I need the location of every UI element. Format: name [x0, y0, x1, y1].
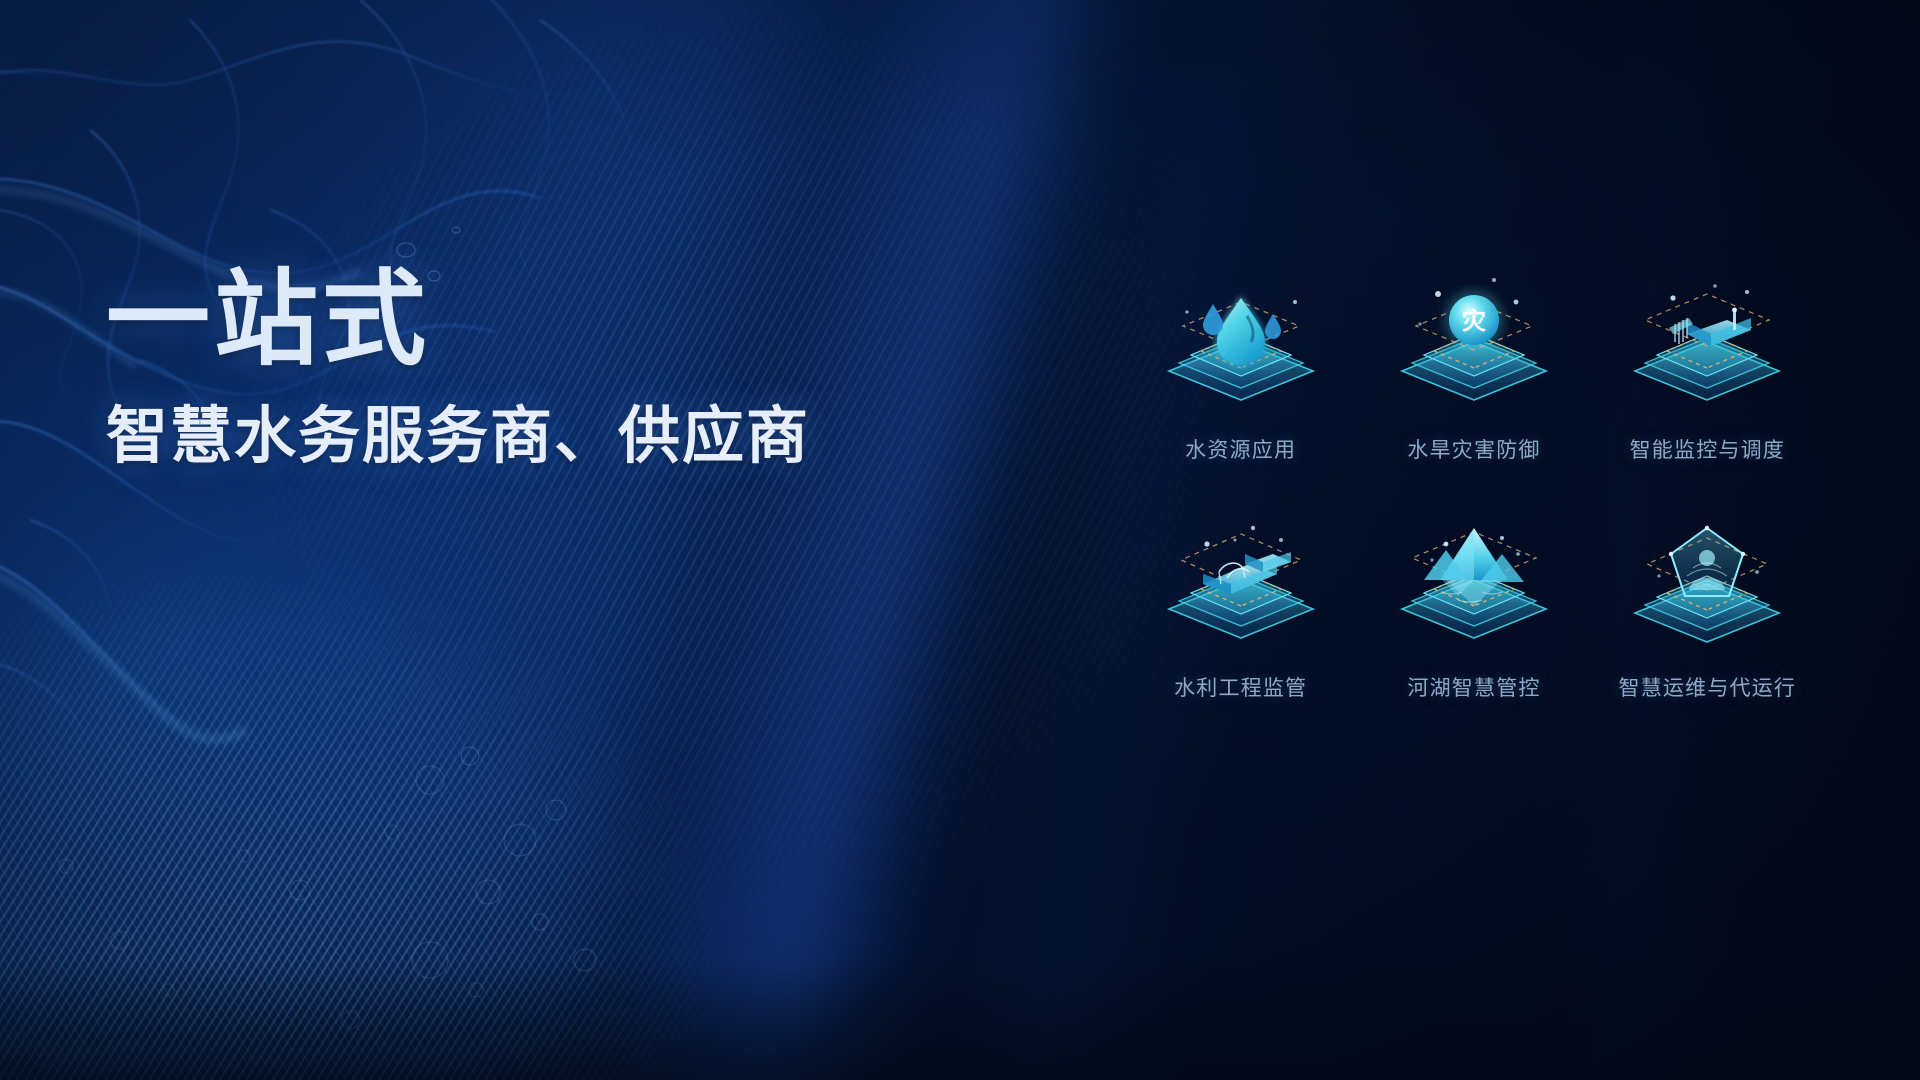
- page-subtitle: 智慧水务服务商、供应商: [106, 402, 926, 471]
- bottom-fade-overlay: [0, 960, 1920, 1080]
- water-drop-icon: [1143, 272, 1339, 422]
- sphere-glyph: 灾: [1462, 307, 1486, 335]
- feature-label: 智慧运维与代运行: [1619, 672, 1797, 702]
- feature-item-smart-operations[interactable]: 智慧运维与代运行: [1591, 510, 1824, 702]
- feature-item-water-resource[interactable]: 水资源应用: [1124, 272, 1357, 464]
- shield-operations-icon: [1609, 510, 1805, 660]
- feature-item-flood-drought[interactable]: 灾 水旱灾害防御: [1357, 272, 1590, 464]
- feature-item-hydraulic-supervision[interactable]: 水利工程监管: [1124, 510, 1357, 702]
- slide-canvas: 一站式 智慧水务服务商、供应商: [0, 0, 1920, 1080]
- river-lake-terrain-icon: [1376, 510, 1572, 660]
- feature-item-river-lake-control[interactable]: 河湖智慧管控: [1357, 510, 1590, 702]
- feature-label: 水资源应用: [1185, 434, 1296, 464]
- hero-copy: 一站式 智慧水务服务商、供应商: [106, 268, 926, 471]
- feature-label: 河湖智慧管控: [1407, 672, 1540, 702]
- dam-monitoring-icon: [1609, 272, 1805, 422]
- disaster-sphere-icon: 灾: [1376, 272, 1572, 422]
- hydraulic-engineering-icon: [1143, 510, 1339, 660]
- page-title: 一站式: [106, 268, 926, 372]
- feature-grid: 水资源应用: [1124, 272, 1824, 702]
- feature-label: 智能监控与调度: [1630, 434, 1785, 464]
- feature-label: 水利工程监管: [1174, 672, 1307, 702]
- feature-label: 水旱灾害防御: [1407, 434, 1540, 464]
- feature-item-smart-monitoring[interactable]: 智能监控与调度: [1591, 272, 1824, 464]
